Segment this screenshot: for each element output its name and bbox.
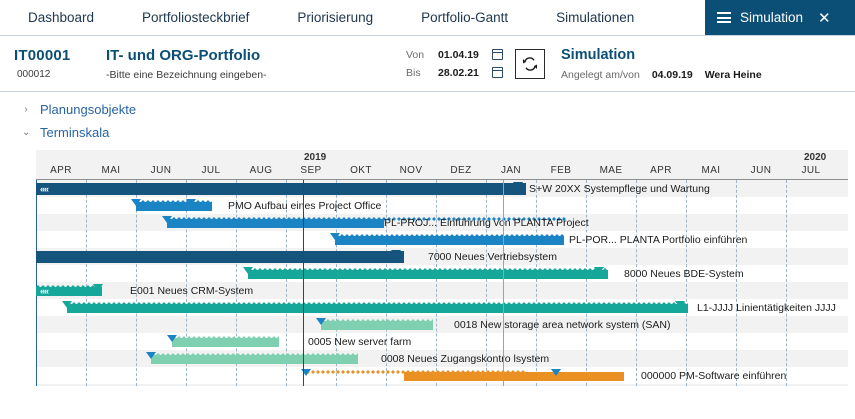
object-number: 000012 bbox=[14, 69, 106, 80]
gantt-milestone-marker[interactable] bbox=[131, 199, 141, 206]
gantt-bar[interactable] bbox=[36, 183, 526, 195]
active-tab-label: Simulation bbox=[740, 10, 803, 25]
date-to-value[interactable]: 28.02.21 bbox=[438, 67, 484, 79]
date-from-label: Von bbox=[406, 49, 430, 61]
gantt-bar-label: PL-PROJ... Einführung von PLANTA Project bbox=[384, 217, 589, 229]
gantt-month-label: AUG bbox=[236, 165, 286, 176]
gantt-bar[interactable] bbox=[248, 270, 608, 279]
accordion-planungsobjekte[interactable]: › Planungsobjekte bbox=[22, 98, 855, 121]
gantt-chart[interactable]: 20192020APRMAIJUNJULAUGSEPOKTNOVDEZJANFE… bbox=[36, 150, 848, 386]
gantt-body[interactable]: ««S+W 20XX Systempflege und WartungPMO A… bbox=[36, 180, 848, 386]
gantt-milestone-marker[interactable] bbox=[391, 250, 401, 257]
object-id-block: IT00001 000012 bbox=[14, 47, 106, 80]
created-by: Wera Heine bbox=[705, 69, 762, 81]
nav-item-list: Dashboard Portfoliosteckbrief Priorisier… bbox=[0, 0, 705, 35]
simulation-title: Simulation bbox=[561, 47, 762, 63]
gantt-gridline bbox=[786, 180, 787, 386]
gantt-year-label: 2020 bbox=[804, 152, 826, 163]
simulation-meta: Angelegt am/von 04.09.19 Wera Heine bbox=[561, 69, 762, 81]
gantt-milestone-marker[interactable] bbox=[93, 284, 103, 291]
object-header: IT00001 000012 IT- und ORG-Portfolio -Bi… bbox=[0, 36, 855, 92]
close-icon[interactable]: ✕ bbox=[818, 9, 831, 27]
calendar-icon[interactable] bbox=[492, 67, 503, 78]
gantt-gridline bbox=[736, 180, 737, 386]
gantt-milestone-marker[interactable] bbox=[330, 233, 340, 240]
gantt-milestone-marker[interactable] bbox=[513, 182, 523, 189]
gantt-month-label: NOV bbox=[386, 165, 436, 176]
gantt-gridline bbox=[686, 180, 687, 386]
gantt-month-label: JAN bbox=[486, 165, 536, 176]
gantt-milestone-marker[interactable] bbox=[146, 352, 156, 359]
gantt-bar-label: 7000 Neues Vertriebsystem bbox=[428, 251, 557, 263]
gantt-milestone-marker[interactable] bbox=[594, 267, 604, 274]
gantt-gridline bbox=[86, 180, 87, 386]
gantt-milestone-marker[interactable] bbox=[167, 335, 177, 342]
gantt-bar-label: 0018 New storage area network system (SA… bbox=[454, 319, 671, 331]
chevron-right-icon: › bbox=[22, 104, 30, 115]
date-to-label: Bis bbox=[406, 67, 430, 79]
gantt-bar-label: S+W 20XX Systempflege und Wartung bbox=[529, 183, 710, 195]
gantt-bar[interactable] bbox=[335, 236, 564, 245]
gantt-milestone-marker[interactable] bbox=[62, 301, 72, 308]
gantt-bar-label: PL-POR... PLANTA Portfolio einführen bbox=[569, 234, 747, 246]
chevron-down-icon: ⌄ bbox=[22, 127, 30, 138]
active-tab-simulation[interactable]: Simulation ✕ bbox=[705, 0, 855, 35]
gantt-today-line bbox=[303, 180, 304, 386]
nav-item-simulationen[interactable]: Simulationen bbox=[546, 0, 672, 36]
created-label: Angelegt am/von bbox=[561, 69, 640, 81]
gantt-bar-label: E001 Neues CRM-System bbox=[130, 285, 253, 297]
gantt-left-border bbox=[36, 180, 37, 386]
gantt-month-label: SEP bbox=[286, 165, 336, 176]
gantt-month-label: MAI bbox=[86, 165, 136, 176]
gantt-month-label: MAI bbox=[686, 165, 736, 176]
menu-icon[interactable] bbox=[717, 12, 731, 23]
date-to-row: Bis 28.02.21 bbox=[406, 67, 503, 79]
top-navbar: Dashboard Portfoliosteckbrief Priorisier… bbox=[0, 0, 855, 36]
nav-item-portfolio-gantt[interactable]: Portfolio-Gantt bbox=[411, 0, 546, 36]
gantt-month-label: DEZ bbox=[436, 165, 486, 176]
gantt-bar-label: PMO Aufbau eines Project Office bbox=[228, 200, 381, 212]
gantt-milestone-marker[interactable] bbox=[162, 216, 172, 223]
gantt-bar-label: 8000 Neues BDE-System bbox=[624, 268, 744, 280]
gantt-month-label: MAE bbox=[586, 165, 636, 176]
object-name-block: IT- und ORG-Portfolio -Bitte eine Bezeic… bbox=[106, 47, 406, 81]
date-from-row: Von 01.04.19 bbox=[406, 49, 503, 61]
calendar-icon[interactable] bbox=[492, 49, 503, 60]
accordion-label: Terminskala bbox=[40, 125, 109, 140]
date-from-value[interactable]: 01.04.19 bbox=[438, 49, 484, 61]
gantt-bar[interactable] bbox=[321, 321, 433, 330]
date-range-fields: Von 01.04.19 Bis 28.02.21 bbox=[406, 49, 503, 79]
gantt-bar[interactable] bbox=[404, 372, 624, 381]
refresh-icon bbox=[521, 55, 539, 73]
gantt-milestone-marker[interactable] bbox=[316, 318, 326, 325]
gantt-bar-label: 000000 PM-Software einführen bbox=[641, 370, 786, 382]
gantt-month-label: FEB bbox=[536, 165, 586, 176]
gantt-milestone-marker[interactable] bbox=[675, 301, 685, 308]
gantt-year-label: 2019 bbox=[304, 152, 326, 163]
gantt-collapse-icon[interactable]: «« bbox=[40, 286, 48, 296]
gantt-milestone-marker[interactable] bbox=[243, 267, 253, 274]
accordion-terminskala[interactable]: ⌄ Terminskala bbox=[22, 121, 855, 144]
accordion-sections: › Planungsobjekte ⌄ Terminskala bbox=[0, 92, 855, 144]
gantt-month-label: APR bbox=[36, 165, 86, 176]
gantt-month-label: JUL bbox=[186, 165, 236, 176]
nav-item-dashboard[interactable]: Dashboard bbox=[18, 0, 132, 36]
gantt-bar[interactable] bbox=[67, 304, 688, 313]
gantt-bar-label: 0005 New server farm bbox=[308, 336, 411, 348]
gantt-collapse-icon[interactable]: «« bbox=[40, 184, 48, 194]
gantt-status-line bbox=[503, 180, 504, 386]
gantt-month-label: OKT bbox=[336, 165, 386, 176]
gantt-row[interactable] bbox=[36, 316, 848, 333]
gantt-gridline bbox=[586, 180, 587, 386]
gantt-bar-label: 0008 Neues Zugangskontro lsystem bbox=[381, 353, 549, 365]
nav-item-portfoliosteckbrief[interactable]: Portfoliosteckbrief bbox=[132, 0, 287, 36]
gantt-bar[interactable] bbox=[151, 355, 358, 364]
refresh-button[interactable] bbox=[515, 49, 545, 79]
gantt-month-label: JUL bbox=[786, 165, 836, 176]
gantt-row[interactable] bbox=[36, 333, 848, 350]
gantt-month-label: JUN bbox=[136, 165, 186, 176]
object-id: IT00001 bbox=[14, 47, 106, 64]
gantt-bar-label: L1-JJJJ Linientätigkeiten JJJJ bbox=[697, 302, 836, 314]
gantt-month-label: JUN bbox=[736, 165, 786, 176]
gantt-month-label: APR bbox=[636, 165, 686, 176]
accordion-label: Planungsobjekte bbox=[40, 102, 136, 117]
gantt-bar[interactable] bbox=[36, 251, 404, 263]
gantt-milestone-marker[interactable] bbox=[186, 199, 196, 206]
object-subtitle[interactable]: -Bitte eine Bezeichnung eingeben- bbox=[106, 69, 406, 81]
created-date: 04.09.19 bbox=[652, 69, 693, 81]
simulation-block: Simulation Angelegt am/von 04.09.19 Wera… bbox=[561, 47, 762, 81]
gantt-timeline-header: 20192020APRMAIJUNJULAUGSEPOKTNOVDEZJANFE… bbox=[36, 150, 848, 180]
page-title: IT- und ORG-Portfolio bbox=[106, 47, 406, 64]
gantt-milestone-marker[interactable] bbox=[551, 369, 561, 376]
nav-item-priorisierung[interactable]: Priorisierung bbox=[287, 0, 411, 36]
gantt-bar[interactable] bbox=[172, 338, 279, 347]
gantt-bar[interactable] bbox=[167, 219, 384, 228]
gantt-row[interactable] bbox=[36, 384, 848, 386]
gantt-gridline bbox=[636, 180, 637, 386]
gantt-bar[interactable] bbox=[136, 202, 212, 211]
